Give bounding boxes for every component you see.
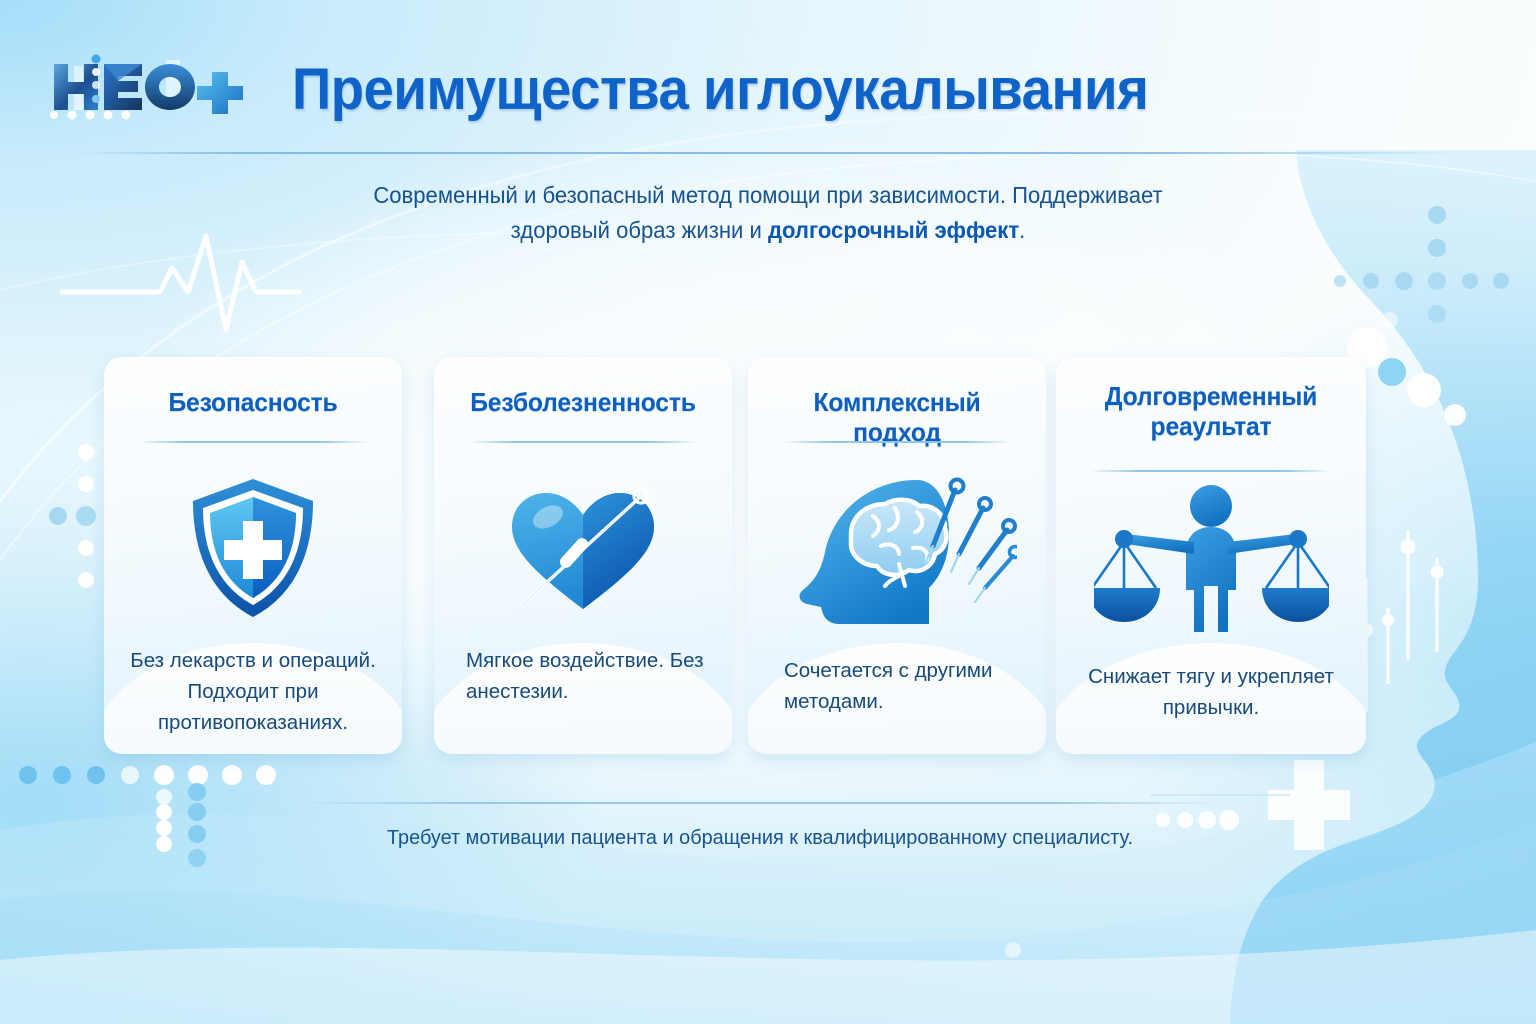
person-scales-icon [1056,469,1366,644]
card-title: Комплексный подход [771,387,1024,447]
card-rule [782,441,1012,443]
subtitle-highlight: долгосрочный эффект [768,217,1019,243]
benefit-card-painless[interactable]: Безболезненность [434,357,732,754]
card-rule [468,441,698,443]
footer-note: Требует мотивации пациента и обращения к… [283,826,1237,850]
card-title: Безопасность [127,387,380,417]
card-rule [138,441,368,443]
heart-needle-icon [434,453,732,643]
benefit-cards: Безопасность [0,357,1536,757]
header: Преимущества иглоукалывания [0,0,1536,152]
benefit-card-safety[interactable]: Безопасность [104,357,402,754]
card-description: Мягкое воздействие. Без анестезии. [448,645,718,707]
card-description: Сочетается с другими методами. [762,655,1032,717]
neo-plus-logo[interactable] [46,52,246,122]
card-title: Долговременный реаультат [1079,381,1343,441]
card-description: Без лекарств и операций. Подходит при пр… [118,645,388,738]
benefit-card-complex-approach[interactable]: Комплексный подход [748,357,1046,754]
subtitle: Современный и безопасный метод помощи пр… [288,178,1248,247]
subtitle-line-2-suffix: . [1019,217,1025,243]
card-description: Снижает тягу и укрепляет привычки. [1070,661,1352,723]
footer-divider [300,802,1220,804]
subtitle-line-2-prefix: здоровый образ жизни и [511,217,768,243]
header-divider [78,152,1458,154]
card-title: Безболезненность [457,387,710,417]
benefit-card-long-term-result[interactable]: Долговременный реаультат [1056,357,1366,754]
infographic-canvas: Преимущества иглоукалывания Современный … [0,0,1536,1024]
subtitle-line-1: Современный и безопасный метод помощи пр… [373,182,1162,208]
head-brain-needles-icon [748,453,1046,643]
shield-cross-icon [104,453,402,643]
page-title: Преимущества иглоукалывания [292,56,1148,123]
